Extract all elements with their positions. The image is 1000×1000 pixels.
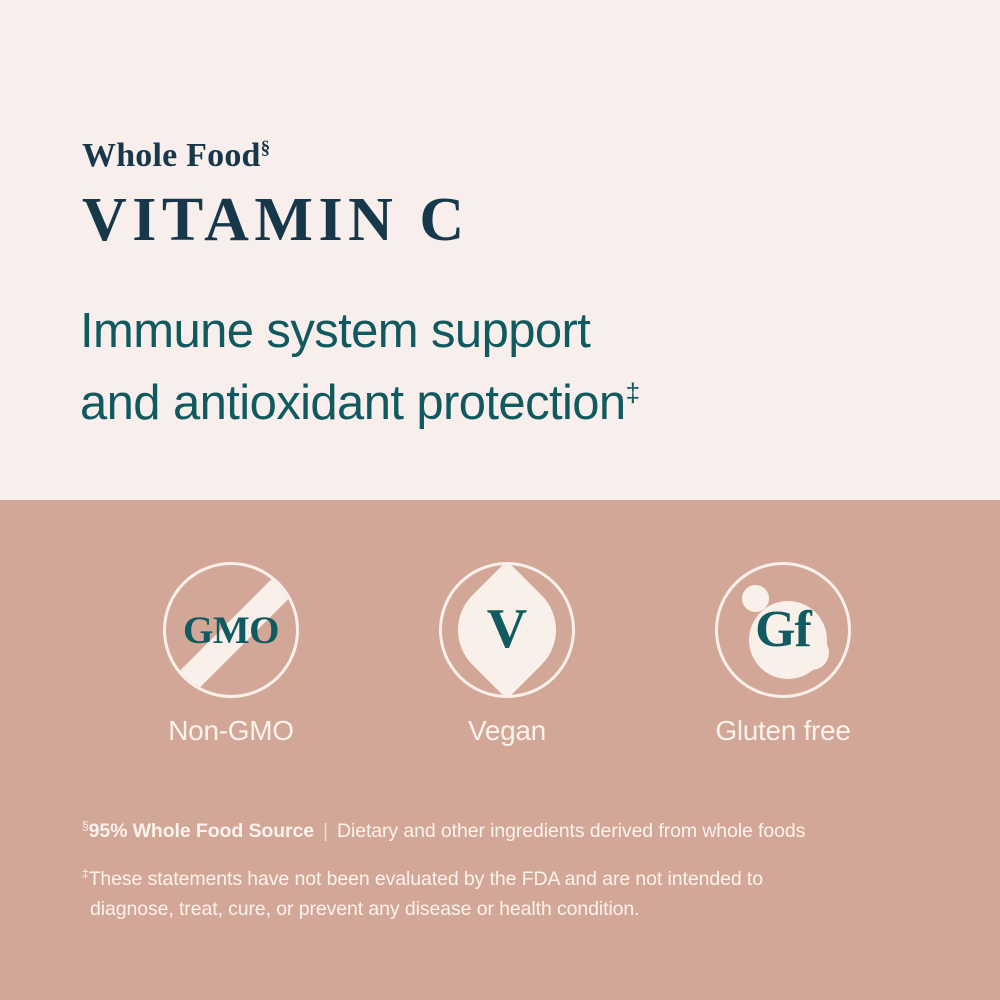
vegan-leaf-icon: V <box>439 562 575 698</box>
footnote-source-superscript-symbol: § <box>82 819 89 833</box>
product-info-graphic: Whole Food§ VITAMIN C Immune system supp… <box>0 0 1000 1000</box>
footnote-fda-disclaimer: ‡These statements have not been evaluate… <box>82 865 872 924</box>
badge-gluten-free: Gf Gluten free <box>701 562 866 747</box>
footnote-source-bold-text: 95% Whole Food Source <box>89 820 314 842</box>
eyebrow-text: Whole Food <box>82 137 261 174</box>
badge-label-gluten-free: Gluten free <box>715 715 850 747</box>
badge-row: GMO Non-GMO V Vegan Gf <box>0 562 1000 747</box>
footnotes: §95% Whole Food Source|Dietary and other… <box>82 820 962 925</box>
eyebrow-superscript-symbol: § <box>261 138 271 159</box>
non-gmo-icon: GMO <box>163 562 299 698</box>
footnote-disclaimer-superscript-symbol: ‡ <box>82 867 89 881</box>
benefit-line-1: Immune system support <box>80 304 590 358</box>
eyebrow-whole-food: Whole Food§ <box>82 139 270 173</box>
page-title: VITAMIN C <box>82 188 470 253</box>
badge-label-vegan: Vegan <box>468 715 546 747</box>
footnote-source-detail: Dietary and other ingredients derived fr… <box>337 820 805 842</box>
benefit-line-2: and antioxidant protection <box>80 376 626 430</box>
badge-label-non-gmo: Non-GMO <box>168 715 293 747</box>
footnote-divider: | <box>323 820 328 843</box>
badge-vegan: V Vegan <box>425 562 590 747</box>
badge-non-gmo: GMO Non-GMO <box>149 562 314 747</box>
vegan-icon-glyph: V <box>487 601 527 657</box>
gluten-free-icon: Gf <box>715 562 851 698</box>
footnote-disclaimer-line-2: diagnose, treat, cure, or prevent any di… <box>82 895 872 925</box>
footnote-source: §95% Whole Food Source|Dietary and other… <box>82 820 962 843</box>
gluten-free-icon-glyph: Gf <box>755 604 811 656</box>
benefit-superscript-symbol: ‡ <box>626 377 640 407</box>
non-gmo-icon-glyph: GMO <box>183 611 279 650</box>
headline-panel: Whole Food§ VITAMIN C Immune system supp… <box>0 0 1000 500</box>
benefit-statement: Immune system support and antioxidant pr… <box>80 296 940 439</box>
certifications-panel: GMO Non-GMO V Vegan Gf <box>0 500 1000 1000</box>
footnote-disclaimer-line-1: These statements have not been evaluated… <box>89 868 763 890</box>
